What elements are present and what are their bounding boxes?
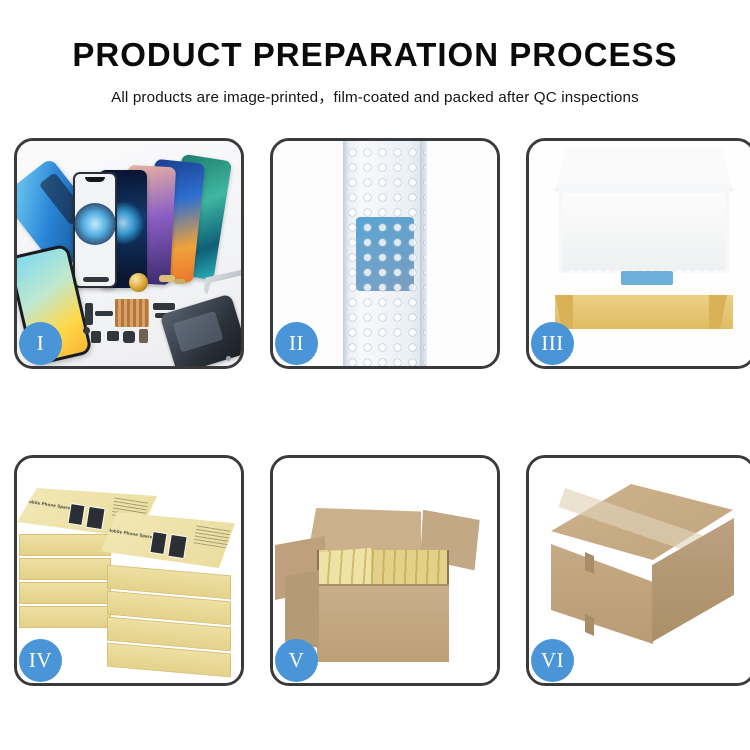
mailer-front-panel [555,295,733,329]
step-badge-6: VI [531,639,574,682]
step-panel-5[interactable]: V [270,455,500,686]
step-panel-4[interactable]: Mobile Phone Spare Parts Mobile Phone Sp… [14,455,244,686]
step-badge-2: II [275,322,318,365]
product-preparation-page: PRODUCT PREPARATION PROCESS All products… [0,0,750,750]
step-badge-5: V [275,639,318,682]
step-badge-4: IV [19,639,62,682]
step-panel-3[interactable]: III [526,138,750,369]
page-subtitle: All products are image-printed，film-coat… [0,85,750,107]
phone-lineup-icon [69,157,241,287]
step-panel-1[interactable]: I [14,138,244,369]
page-title: PRODUCT PREPARATION PROCESS [0,36,750,74]
step-badge-3: III [531,322,574,365]
step-panel-6[interactable]: VI [526,455,750,686]
step-panel-2[interactable]: II [270,138,500,369]
process-grid: I II [14,138,736,686]
carton-front-panel [317,586,449,662]
header: PRODUCT PREPARATION PROCESS All products… [0,0,750,107]
foam-liner-icon [563,193,725,271]
step-badge-1: I [19,322,62,365]
spare-parts-cluster-icon [83,269,241,366]
